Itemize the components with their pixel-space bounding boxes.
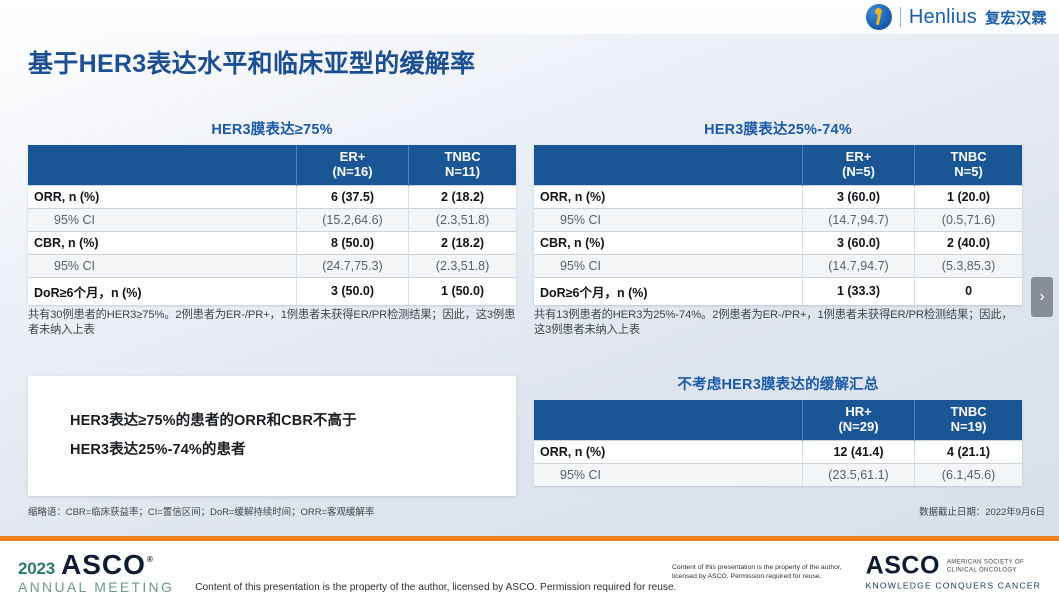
row-value-er: 6 (37.5) xyxy=(296,185,408,208)
asco-footer: 2023 ASCO ANNUAL MEETING Content of this… xyxy=(0,536,1059,604)
data-cutoff-text: 数据截止日期：2022年9月6日 xyxy=(919,504,1045,518)
column-header-hr-n: (N=29) xyxy=(838,419,878,434)
brand-bar: Henlius 复宏汉霖 xyxy=(0,0,1059,34)
row-value-tnbc: 4 (21.1) xyxy=(915,440,1022,463)
row-value-tnbc: 2 (40.0) xyxy=(915,231,1022,254)
footer-content: 2023 ASCO ANNUAL MEETING Content of this… xyxy=(0,541,1059,604)
her3-mid-table: ER+ (N=5) TNBC N=5) ORR, n (%) 3 (60.0) … xyxy=(534,145,1022,305)
page-title: 基于HER3表达水平和临床亚型的缓解率 xyxy=(28,44,475,80)
row-value-tnbc: 1 (20.0) xyxy=(915,185,1022,208)
table-row: ORR, n (%) 3 (60.0) 1 (20.0) xyxy=(534,185,1022,208)
row-value-tnbc: (2.3,51.8) xyxy=(409,254,516,277)
row-value-er: 3 (50.0) xyxy=(296,277,408,305)
table-row: ORR, n (%) 6 (37.5) 2 (18.2) xyxy=(28,185,516,208)
table-row: 95% CI (14.7,94.7) (0.5,71.6) xyxy=(534,208,1022,231)
asco-year: 2023 xyxy=(18,560,55,577)
row-value-hr: (23.5,61.1) xyxy=(802,463,914,486)
table-row: ORR, n (%) 12 (41.4) 4 (21.1) xyxy=(534,440,1022,463)
key-message-callout: HER3表达≥75%的患者的ORR和CBR不高于 HER3表达25%-74%的患… xyxy=(28,376,516,496)
chevron-right-icon: › xyxy=(1039,289,1044,305)
row-value-er: 8 (50.0) xyxy=(296,231,408,254)
logo-divider xyxy=(900,7,901,27)
asco-wordmark: ASCO xyxy=(61,551,153,579)
right-panel: HER3膜表达25%-74% ER+ (N=5) TNBC N=5) xyxy=(534,118,1022,337)
table-header-row: HR+ (N=29) TNBC N=19) xyxy=(534,400,1022,440)
asco-annual-meeting-label: ANNUAL MEETING xyxy=(18,580,174,594)
her3-high-table: ER+ (N=16) TNBC N=11) ORR, n (%) 6 (37.5… xyxy=(28,145,516,305)
brand-name-cn: 复宏汉霖 xyxy=(985,7,1047,28)
asco-society-name: AMERICAN SOCIETY OF CLINICAL ONCOLOGY xyxy=(947,554,1024,575)
row-value-hr: 12 (41.4) xyxy=(802,440,914,463)
slide-root: Henlius 复宏汉霖 基于HER3表达水平和临床亚型的缓解率 HER3膜表达… xyxy=(0,0,1059,604)
row-label: 95% CI xyxy=(28,254,296,277)
row-label: 95% CI xyxy=(534,208,802,231)
table-row: CBR, n (%) 3 (60.0) 2 (40.0) xyxy=(534,231,1022,254)
callout-line-2: HER3表达25%-74%的患者 xyxy=(70,436,474,465)
column-header-tnbc-label: TNBC xyxy=(445,149,481,164)
column-header-er-label: ER+ xyxy=(846,149,872,164)
asco-society-logo-top: ASCO AMERICAN SOCIETY OF CLINICAL ONCOLO… xyxy=(866,554,1024,578)
table-row: 95% CI (24.7,75.3) (2.3,51.8) xyxy=(28,254,516,277)
row-value-er: 3 (60.0) xyxy=(802,231,914,254)
row-value-tnbc: 2 (18.2) xyxy=(409,231,516,254)
row-value-tnbc: (5.3,85.3) xyxy=(915,254,1022,277)
column-header-blank xyxy=(534,145,802,185)
overall-response-table: HR+ (N=29) TNBC N=19) ORR, n (%) 12 (41.… xyxy=(534,400,1022,486)
column-header-blank xyxy=(28,145,296,185)
row-label: ORR, n (%) xyxy=(534,185,802,208)
column-header-er-label: ER+ xyxy=(340,149,366,164)
left-panel: HER3膜表达≥75% ER+ (N=16) TNBC N=11) xyxy=(28,118,516,337)
table-row: DoR≥6个月，n (%) 3 (50.0) 1 (50.0) xyxy=(28,277,516,305)
footer-copyright-mid: Content of this presentation is the prop… xyxy=(672,563,857,583)
row-value-tnbc: (6.1,45.6) xyxy=(915,463,1022,486)
row-value-tnbc: 0 xyxy=(915,277,1022,305)
callout-line-1: HER3表达≥75%的患者的ORR和CBR不高于 xyxy=(70,407,474,436)
left-panel-heading: HER3膜表达≥75% xyxy=(28,118,516,139)
table-row: CBR, n (%) 8 (50.0) 2 (18.2) xyxy=(28,231,516,254)
row-label: DoR≥6个月，n (%) xyxy=(534,277,802,305)
asco-tagline: KNOWLEDGE CONQUERS CANCER xyxy=(866,581,1041,591)
asco-logo-line-1: 2023 ASCO xyxy=(18,551,174,579)
column-header-tnbc-label: TNBC xyxy=(951,404,987,419)
column-header-er: ER+ (N=16) xyxy=(296,145,408,185)
row-value-tnbc: (2.3,51.8) xyxy=(409,208,516,231)
next-slide-button[interactable]: › xyxy=(1031,277,1053,317)
column-header-hr-label: HR+ xyxy=(845,404,871,419)
asco-meeting-logo: 2023 ASCO ANNUAL MEETING Content of this… xyxy=(18,551,677,594)
left-table-footnote: 共有30例患者的HER3≥75%。2例患者为ER-/PR+，1例患者未获得ER/… xyxy=(28,308,516,338)
henlius-logo: Henlius 复宏汉霖 xyxy=(866,4,1047,30)
row-value-tnbc: (0.5,71.6) xyxy=(915,208,1022,231)
column-header-tnbc: TNBC N=5) xyxy=(915,145,1022,185)
column-header-blank xyxy=(534,400,802,440)
row-label: CBR, n (%) xyxy=(534,231,802,254)
asco-logo-block: 2023 ASCO ANNUAL MEETING xyxy=(18,551,174,594)
asco-society-line-2: CLINICAL ONCOLOGY xyxy=(947,567,1024,576)
column-header-er-n: (N=5) xyxy=(842,164,875,179)
table-header-row: ER+ (N=5) TNBC N=5) xyxy=(534,145,1022,185)
row-label: ORR, n (%) xyxy=(534,440,802,463)
abbreviations-text: 缩略语：CBR=临床获益率；CI=置信区间；DoR=缓解持续时间；ORR=客观缓… xyxy=(28,504,374,518)
summary-panel-heading: 不考虑HER3膜表达的缓解汇总 xyxy=(534,373,1022,394)
row-value-er: (24.7,75.3) xyxy=(296,254,408,277)
footer-copyright-left: Content of this presentation is the prop… xyxy=(195,582,676,593)
summary-panel: 不考虑HER3膜表达的缓解汇总 HR+ (N=29) TNBC N=19) xyxy=(534,373,1022,486)
abbreviations-strip: 缩略语：CBR=临床获益率；CI=置信区间；DoR=缓解持续时间；ORR=客观缓… xyxy=(28,504,1045,518)
henlius-mark-icon xyxy=(866,4,892,30)
column-header-tnbc-label: TNBC xyxy=(951,149,987,164)
table-header-row: ER+ (N=16) TNBC N=11) xyxy=(28,145,516,185)
row-label: 95% CI xyxy=(534,463,802,486)
asco-society-wordmark: ASCO xyxy=(866,554,940,578)
column-header-tnbc-n: N=11) xyxy=(445,164,480,179)
column-header-tnbc: TNBC N=19) xyxy=(915,400,1022,440)
row-label: DoR≥6个月，n (%) xyxy=(28,277,296,305)
right-panel-heading: HER3膜表达25%-74% xyxy=(534,118,1022,139)
brand-name-en: Henlius xyxy=(909,6,977,29)
row-value-er: (14.7,94.7) xyxy=(802,208,914,231)
table-row: 95% CI (14.7,94.7) (5.3,85.3) xyxy=(534,254,1022,277)
row-label: 95% CI xyxy=(28,208,296,231)
asco-society-line-1: AMERICAN SOCIETY OF xyxy=(947,558,1024,567)
column-header-hr: HR+ (N=29) xyxy=(802,400,914,440)
row-value-er: 3 (60.0) xyxy=(802,185,914,208)
row-label: ORR, n (%) xyxy=(28,185,296,208)
row-value-tnbc: 1 (50.0) xyxy=(409,277,516,305)
table-row: 95% CI (23.5,61.1) (6.1,45.6) xyxy=(534,463,1022,486)
column-header-tnbc-n: N=5) xyxy=(954,164,983,179)
column-header-tnbc-n: N=19) xyxy=(951,419,987,434)
right-table-footnote: 共有13例患者的HER3为25%-74%。2例患者为ER-/PR+，1例患者未获… xyxy=(534,308,1022,338)
table-row: DoR≥6个月，n (%) 1 (33.3) 0 xyxy=(534,277,1022,305)
row-value-er: (14.7,94.7) xyxy=(802,254,914,277)
table-row: 95% CI (15.2,64.6) (2.3,51.8) xyxy=(28,208,516,231)
column-header-er-n: (N=16) xyxy=(332,164,372,179)
column-header-er: ER+ (N=5) xyxy=(802,145,914,185)
row-value-tnbc: 2 (18.2) xyxy=(409,185,516,208)
row-label: 95% CI xyxy=(534,254,802,277)
row-value-er: (15.2,64.6) xyxy=(296,208,408,231)
row-value-er: 1 (33.3) xyxy=(802,277,914,305)
row-label: CBR, n (%) xyxy=(28,231,296,254)
column-header-tnbc: TNBC N=11) xyxy=(409,145,516,185)
asco-society-logo: ASCO AMERICAN SOCIETY OF CLINICAL ONCOLO… xyxy=(866,554,1041,591)
